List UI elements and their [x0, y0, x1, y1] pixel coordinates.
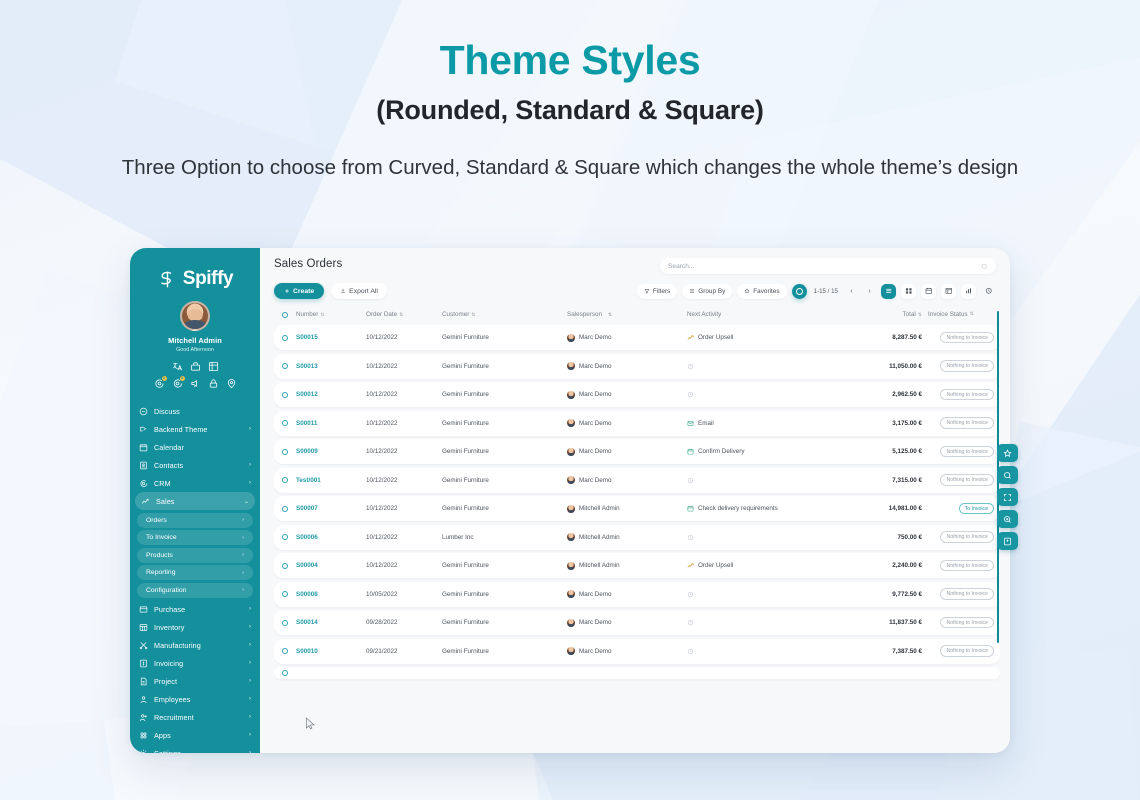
- chevron-right-icon: ›: [249, 606, 251, 612]
- cell-invoice-status: Nothing to Invoice: [922, 531, 994, 542]
- cell-order-date: 10/12/2022: [366, 534, 442, 541]
- crm-icon: [139, 479, 148, 488]
- cell-invoice-status: Nothing to Invoice: [922, 617, 994, 628]
- clock-icon: [687, 591, 694, 598]
- cell-number[interactable]: Test/001: [296, 477, 366, 484]
- avatar: [567, 362, 575, 370]
- chevron-right-icon: ›: [249, 696, 251, 702]
- table-row[interactable]: S0001310/12/2022Gemini FurnitureMarc Dem…: [274, 354, 1000, 379]
- cell-order-date: 10/12/2022: [366, 505, 442, 512]
- brand-logo[interactable]: Spiffy: [130, 268, 260, 290]
- cell-next-activity: [687, 619, 860, 626]
- status-badge: Nothing to Invoice: [940, 560, 994, 571]
- cell-order-date: 10/12/2022: [366, 448, 442, 455]
- column-header-total[interactable]: Total⇅: [860, 311, 922, 318]
- cell-number[interactable]: S00011: [296, 420, 366, 427]
- clock-icon: [687, 363, 694, 370]
- sidebar-item-label: Employees: [154, 695, 243, 704]
- cell-number[interactable]: S00013: [296, 363, 366, 370]
- sidebar-item-backend-theme[interactable]: Backend Theme ›: [130, 420, 260, 438]
- quick-icons-row-2: 1 3: [130, 378, 260, 389]
- avatar: [567, 647, 575, 655]
- table-row[interactable]: S0001510/12/2022Gemini FurnitureMarc Dem…: [274, 325, 1000, 350]
- avatar: [567, 619, 575, 627]
- cell-order-date: 09/21/2022: [366, 648, 442, 655]
- avatar: [567, 590, 575, 598]
- project-icon: [139, 677, 148, 686]
- filters-button[interactable]: Filters: [637, 284, 677, 299]
- cell-salesperson: Marc Demo: [567, 647, 687, 655]
- sort-icon: ⇅: [608, 312, 612, 318]
- cell-salesperson: Mitchell Admin: [567, 505, 687, 513]
- cell-customer: Gemini Furniture: [442, 477, 567, 484]
- status-badge: Nothing to Invoice: [940, 588, 994, 599]
- sidebar-subitem-configuration[interactable]: Configuration ›: [137, 583, 253, 598]
- sidebar-item-label: Discuss: [154, 407, 251, 416]
- sidebar-item-inventory[interactable]: Inventory ›: [130, 618, 260, 636]
- export-label: Export All: [349, 288, 378, 295]
- table-body: S0001510/12/2022Gemini FurnitureMarc Dem…: [274, 325, 1000, 679]
- cell-salesperson: Mitchell Admin: [567, 533, 687, 541]
- sidebar-item-sales[interactable]: Sales ⌄: [135, 492, 255, 510]
- cell-invoice-status: Nothing to Invoice: [922, 645, 994, 656]
- cell-next-activity: [687, 648, 860, 655]
- megaphone-icon[interactable]: [190, 378, 201, 389]
- chart-up-icon: [687, 334, 694, 341]
- cell-next-activity: Order Upsell: [687, 562, 860, 569]
- sidebar-item-label: Recruitment: [154, 713, 243, 722]
- row-checkbox[interactable]: [274, 363, 296, 369]
- cell-next-activity: [687, 477, 860, 484]
- cell-invoice-status: Nothing to Invoice: [922, 588, 994, 599]
- page-title: Theme Styles: [0, 38, 1140, 84]
- table-row[interactable]: S0000910/12/2022Gemini FurnitureMarc Dem…: [274, 439, 1000, 464]
- app-window: Spiffy Mitchell Admin Good Afternoon 1 3: [130, 248, 1010, 753]
- contacts-icon: [139, 461, 148, 470]
- filters-label: Filters: [653, 288, 670, 295]
- chart-up-icon: [687, 562, 694, 569]
- cell-salesperson: Marc Demo: [567, 419, 687, 427]
- avatar: [567, 476, 575, 484]
- select-all-checkbox[interactable]: [274, 312, 296, 318]
- cell-invoice-status: Nothing to Invoice: [922, 360, 994, 371]
- search-icon: [981, 263, 988, 270]
- cell-customer: Gemini Furniture: [442, 391, 567, 398]
- theme-icon: [139, 425, 148, 434]
- cell-total: 7,315.00 €: [860, 477, 922, 484]
- employees-icon: [139, 695, 148, 704]
- sidebar-subitem-reporting[interactable]: Reporting ›: [137, 565, 253, 580]
- list-view-icon[interactable]: [881, 284, 896, 299]
- cell-order-date: 10/12/2022: [366, 391, 442, 398]
- status-badge: Nothing to Invoice: [940, 617, 994, 628]
- pagination-count: 1-15 / 15: [812, 288, 840, 295]
- page-description: Three Option to choose from Curved, Stan…: [0, 154, 1140, 182]
- row-checkbox[interactable]: [274, 420, 296, 426]
- avatar: [567, 562, 575, 570]
- sidebar-item-label: Manufacturing: [154, 641, 243, 650]
- pin-icon[interactable]: [226, 378, 237, 389]
- sales-icon: [141, 497, 150, 506]
- cell-customer: Gemini Furniture: [442, 591, 567, 598]
- cell-invoice-status: Nothing to Invoice: [922, 332, 994, 343]
- cell-customer: Gemini Furniture: [442, 420, 567, 427]
- sidebar-item-manufacturing[interactable]: Manufacturing ›: [130, 636, 260, 654]
- sidebar-item-purchase[interactable]: Purchase ›: [130, 600, 260, 618]
- cell-total: 8,287.50 €: [860, 334, 922, 341]
- sidebar-subitem-label: Reporting: [146, 569, 242, 576]
- row-checkbox[interactable]: [274, 534, 296, 540]
- sidebar-menu: Discuss Backend Theme › Calendar Contact…: [130, 402, 260, 753]
- cell-next-activity: [687, 391, 860, 398]
- sidebar-subitem-label: Products: [146, 552, 242, 559]
- row-checkbox[interactable]: [274, 477, 296, 483]
- cell-total: 2,240.00 €: [860, 562, 922, 569]
- sidebar-item-contacts[interactable]: Contacts ›: [130, 456, 260, 474]
- cell-number[interactable]: S00010: [296, 648, 366, 655]
- cell-total: 7,387.50 €: [860, 648, 922, 655]
- cell-invoice-status: Nothing to Invoice: [922, 474, 994, 485]
- sidebar-item-label: Project: [154, 677, 243, 686]
- sidebar-item-label: Invoicing: [154, 659, 243, 668]
- row-checkbox[interactable]: [274, 392, 296, 398]
- cell-order-date: 10/12/2022: [366, 420, 442, 427]
- next-page-button[interactable]: ›: [863, 285, 876, 298]
- avatar: [567, 448, 575, 456]
- cell-salesperson: Marc Demo: [567, 334, 687, 342]
- email-icon: [687, 420, 694, 427]
- row-checkbox[interactable]: [274, 563, 296, 569]
- row-checkbox[interactable]: [274, 620, 296, 626]
- manufacturing-icon: [139, 641, 148, 650]
- sidebar-item-project[interactable]: Project ›: [130, 672, 260, 690]
- row-checkbox[interactable]: [274, 335, 296, 341]
- column-header-invoice-status[interactable]: Invoice Status⇅: [922, 311, 994, 318]
- chevron-right-icon: ›: [249, 750, 251, 753]
- pivot-view-icon[interactable]: [941, 284, 956, 299]
- kanban-view-icon[interactable]: [901, 284, 916, 299]
- cell-next-activity: [687, 534, 860, 541]
- chevron-right-icon: ›: [242, 552, 244, 558]
- cell-next-activity: Order Upsell: [687, 334, 860, 341]
- cell-total: 750.00 €: [860, 534, 922, 541]
- sidebar-item-label: Inventory: [154, 623, 243, 632]
- previous-page-button[interactable]: ‹: [845, 285, 858, 298]
- cell-number[interactable]: S00012: [296, 391, 366, 398]
- cell-order-date: 10/12/2022: [366, 562, 442, 569]
- user-greeting: Good Afternoon: [130, 347, 260, 353]
- table-row[interactable]: [274, 667, 1000, 679]
- chevron-right-icon: ›: [242, 517, 244, 523]
- cell-next-activity: [687, 363, 860, 370]
- view-title: Sales Orders: [274, 258, 342, 270]
- sort-icon: ⇅: [320, 312, 324, 318]
- cell-invoice-status: To Invoice: [922, 503, 994, 514]
- group-by-label: Group By: [698, 288, 725, 295]
- favorites-label: Favorites: [753, 288, 779, 295]
- row-checkbox[interactable]: [274, 648, 296, 654]
- cell-customer: Gemini Furniture: [442, 363, 567, 370]
- cell-customer: Lumber Inc: [442, 534, 567, 541]
- chevron-right-icon: ›: [249, 462, 251, 468]
- sidebar-subitem-label: Configuration: [146, 587, 242, 594]
- status-badge: Nothing to Invoice: [940, 531, 994, 542]
- table-row[interactable]: S0000610/12/2022Lumber IncMitchell Admin…: [274, 525, 1000, 550]
- cell-customer: Gemini Furniture: [442, 334, 567, 341]
- row-checkbox[interactable]: [274, 449, 296, 455]
- cell-next-activity: Confirm Delivery: [687, 448, 860, 455]
- cell-number[interactable]: S00009: [296, 448, 366, 455]
- row-checkbox[interactable]: [274, 670, 296, 676]
- avatar: [567, 419, 575, 427]
- sort-icon: ⇅: [399, 312, 403, 318]
- invoicing-icon: [139, 659, 148, 668]
- cell-customer: Gemini Furniture: [442, 448, 567, 455]
- messages-badge: 1: [162, 376, 167, 381]
- calendar-icon: [687, 448, 694, 455]
- chevron-right-icon: ›: [249, 714, 251, 720]
- main-area: Sales Orders Search... Create Export All: [260, 248, 1010, 753]
- cell-invoice-status: Nothing to Invoice: [922, 560, 994, 571]
- sort-icon: ⇅: [918, 312, 922, 318]
- cell-customer: Gemini Furniture: [442, 648, 567, 655]
- side-tool-rail: [997, 444, 1018, 550]
- sort-icon: ⇅: [471, 312, 475, 318]
- translate-icon[interactable]: [172, 361, 183, 372]
- cell-total: 5,125.00 €: [860, 448, 922, 455]
- star-icon[interactable]: [997, 444, 1018, 462]
- cell-number[interactable]: S00008: [296, 591, 366, 598]
- sidebar-subitem-orders[interactable]: Orders ›: [137, 513, 253, 528]
- sidebar-item-label: Sales: [156, 497, 238, 506]
- status-badge: Nothing to Invoice: [940, 645, 994, 656]
- toolbar: Sales Orders Search... Create Export All: [260, 248, 1010, 303]
- graph-view-icon[interactable]: [961, 284, 976, 299]
- zoom-in-icon[interactable]: [997, 510, 1018, 528]
- clock-icon: [687, 534, 694, 541]
- sidebar-item-settings[interactable]: Settings ›: [130, 744, 260, 753]
- messages-icon[interactable]: 1: [154, 378, 165, 389]
- avatar[interactable]: [180, 301, 210, 331]
- clock-icon: [687, 477, 694, 484]
- cell-number[interactable]: S00007: [296, 505, 366, 512]
- gear-icon: [139, 749, 148, 754]
- search-input[interactable]: Search...: [660, 258, 996, 274]
- discuss-icon: [139, 407, 148, 416]
- cell-customer: Gemini Furniture: [442, 619, 567, 626]
- user-name: Mitchell Admin: [130, 336, 260, 345]
- row-checkbox[interactable]: [274, 506, 296, 512]
- cell-salesperson: Marc Demo: [567, 619, 687, 627]
- sidebar-item-crm[interactable]: CRM ›: [130, 474, 260, 492]
- clock-icon: [687, 391, 694, 398]
- chevron-right-icon: ›: [249, 426, 251, 432]
- sidebar-item-label: Calendar: [154, 443, 251, 452]
- cell-order-date: 09/28/2022: [366, 619, 442, 626]
- cell-customer: Gemini Furniture: [442, 505, 567, 512]
- fullscreen-icon[interactable]: [997, 488, 1018, 506]
- sidebar-item-employees[interactable]: Employees ›: [130, 690, 260, 708]
- status-badge: Nothing to Invoice: [940, 389, 994, 400]
- cell-number[interactable]: S00014: [296, 619, 366, 626]
- table-row[interactable]: Test/00110/12/2022Gemini FurnitureMarc D…: [274, 468, 1000, 493]
- chevron-down-icon: ⌄: [244, 498, 249, 505]
- status-badge: Nothing to Invoice: [940, 474, 994, 485]
- cell-next-activity: Check delivery requirements: [687, 505, 860, 512]
- lock-icon[interactable]: [208, 378, 219, 389]
- cell-total: 14,981.00 €: [860, 505, 922, 512]
- cell-next-activity: Email: [687, 420, 860, 427]
- sidebar-subitem-products[interactable]: Products ›: [137, 548, 253, 563]
- cell-salesperson: Marc Demo: [567, 448, 687, 456]
- panel-icon[interactable]: [997, 532, 1018, 550]
- cell-number[interactable]: S00006: [296, 534, 366, 541]
- chat-badge: 3: [180, 376, 185, 381]
- row-checkbox[interactable]: [274, 591, 296, 597]
- cell-invoice-status: Nothing to Invoice: [922, 446, 994, 457]
- cell-total: 11,050.00 €: [860, 363, 922, 370]
- cell-salesperson: Mitchell Admin: [567, 562, 687, 570]
- chevron-right-icon: ›: [249, 642, 251, 648]
- sidebar-item-apps[interactable]: Apps ›: [130, 726, 260, 744]
- chevron-right-icon: ›: [249, 678, 251, 684]
- create-button[interactable]: Create: [274, 283, 324, 299]
- table-row[interactable]: S0000710/12/2022Gemini FurnitureMitchell…: [274, 496, 1000, 521]
- sidebar-subitem-label: To Invoice: [146, 534, 242, 541]
- chevron-right-icon: ›: [249, 624, 251, 630]
- table-row[interactable]: S0000410/12/2022Gemini FurnitureMitchell…: [274, 553, 1000, 578]
- sidebar-item-recruitment[interactable]: Recruitment ›: [130, 708, 260, 726]
- table-row[interactable]: S0000810/05/2022Gemini FurnitureMarc Dem…: [274, 582, 1000, 607]
- table-row[interactable]: S0001009/21/2022Gemini FurnitureMarc Dem…: [274, 639, 1000, 664]
- cell-customer: Gemini Furniture: [442, 562, 567, 569]
- avatar: [567, 505, 575, 513]
- sidebar-item-discuss[interactable]: Discuss: [130, 402, 260, 420]
- column-header-number[interactable]: Number⇅: [296, 311, 366, 318]
- inventory-icon: [139, 623, 148, 632]
- table-container: Number⇅ Order Date⇅ Customer⇅ Salesperso…: [274, 311, 1000, 753]
- search-icon[interactable]: [997, 466, 1018, 484]
- cell-salesperson: Marc Demo: [567, 391, 687, 399]
- cell-number[interactable]: S00004: [296, 562, 366, 569]
- table-row[interactable]: S0001110/12/2022Gemini FurnitureMarc Dem…: [274, 411, 1000, 436]
- calendar-icon: [139, 443, 148, 452]
- sidebar-item-label: Apps: [154, 731, 243, 740]
- column-header-next-activity[interactable]: Next Activity: [687, 311, 860, 318]
- brand-name: Spiffy: [183, 268, 233, 290]
- sidebar-item-calendar[interactable]: Calendar: [130, 438, 260, 456]
- search-placeholder: Search...: [668, 263, 981, 270]
- briefcase-icon[interactable]: [190, 361, 201, 372]
- sidebar-item-label: Backend Theme: [154, 425, 243, 434]
- table-header: Number⇅ Order Date⇅ Customer⇅ Salesperso…: [274, 311, 1000, 325]
- cell-total: 2,962.50 €: [860, 391, 922, 398]
- status-badge: Nothing to Invoice: [940, 417, 994, 428]
- status-badge: Nothing to Invoice: [940, 332, 994, 343]
- spiffy-mark-icon: [157, 269, 178, 290]
- apps-grid-icon[interactable]: [208, 361, 219, 372]
- cell-order-date: 10/12/2022: [366, 363, 442, 370]
- sidebar-item-label: Contacts: [154, 461, 243, 470]
- cell-invoice-status: Nothing to Invoice: [922, 389, 994, 400]
- mouse-cursor: [305, 717, 316, 731]
- sidebar-subitem-to-invoice[interactable]: To Invoice ›: [137, 530, 253, 545]
- clock-icon: [687, 648, 694, 655]
- sidebar-subitem-label: Orders: [146, 517, 242, 524]
- cell-number[interactable]: S00015: [296, 334, 366, 341]
- chevron-right-icon: ›: [242, 535, 244, 541]
- page-subtitle: (Rounded, Standard & Square): [0, 95, 1140, 126]
- table-row[interactable]: S0001210/12/2022Gemini FurnitureMarc Dem…: [274, 382, 1000, 407]
- cell-order-date: 10/12/2022: [366, 477, 442, 484]
- cell-invoice-status: Nothing to Invoice: [922, 417, 994, 428]
- chevron-right-icon: ›: [249, 660, 251, 666]
- status-badge: To Invoice: [959, 503, 994, 514]
- purchase-icon: [139, 605, 148, 614]
- chat-icon[interactable]: 3: [172, 378, 183, 389]
- chevron-right-icon: ›: [242, 570, 244, 576]
- chevron-right-icon: ›: [242, 587, 244, 593]
- avatar: [567, 334, 575, 342]
- group-by-button[interactable]: Group By: [682, 284, 732, 299]
- cell-total: 9,772.50 €: [860, 591, 922, 598]
- cell-total: 11,837.50 €: [860, 619, 922, 626]
- activity-view-icon[interactable]: [981, 284, 996, 299]
- sidebar: Spiffy Mitchell Admin Good Afternoon 1 3: [130, 248, 260, 753]
- sidebar-item-label: Purchase: [154, 605, 243, 614]
- column-header-order-date[interactable]: Order Date⇅: [366, 311, 442, 318]
- hero-header: Theme Styles (Rounded, Standard & Square…: [0, 0, 1140, 182]
- avatar: [567, 391, 575, 399]
- sidebar-item-label: CRM: [154, 479, 243, 488]
- table-row[interactable]: S0001409/28/2022Gemini FurnitureMarc Dem…: [274, 610, 1000, 635]
- status-badge: Nothing to Invoice: [940, 446, 994, 457]
- favorites-button[interactable]: Favorites: [737, 284, 786, 299]
- status-badge: Nothing to Invoice: [940, 360, 994, 371]
- create-label: Create: [293, 288, 314, 295]
- chevron-right-icon: ›: [249, 480, 251, 486]
- cell-salesperson: Marc Demo: [567, 476, 687, 484]
- cell-order-date: 10/05/2022: [366, 591, 442, 598]
- sidebar-item-invoicing[interactable]: Invoicing ›: [130, 654, 260, 672]
- calendar-icon: [687, 505, 694, 512]
- sort-icon: ⇅: [970, 311, 974, 318]
- cell-salesperson: Marc Demo: [567, 362, 687, 370]
- loading-indicator[interactable]: [792, 284, 807, 299]
- column-header-salesperson[interactable]: Salesperson⇅: [567, 311, 687, 318]
- clock-icon: [687, 619, 694, 626]
- recruitment-icon: [139, 713, 148, 722]
- cell-salesperson: Marc Demo: [567, 590, 687, 598]
- cell-total: 3,175.00 €: [860, 420, 922, 427]
- sidebar-item-label: Settings: [154, 749, 243, 754]
- export-all-button[interactable]: Export All: [331, 283, 387, 299]
- avatar: [567, 533, 575, 541]
- calendar-view-icon[interactable]: [921, 284, 936, 299]
- cell-next-activity: [687, 591, 860, 598]
- cell-order-date: 10/12/2022: [366, 334, 442, 341]
- chevron-right-icon: ›: [249, 732, 251, 738]
- apps-icon: [139, 731, 148, 740]
- quick-icons-row-1: [130, 361, 260, 372]
- column-header-customer[interactable]: Customer⇅: [442, 311, 567, 318]
